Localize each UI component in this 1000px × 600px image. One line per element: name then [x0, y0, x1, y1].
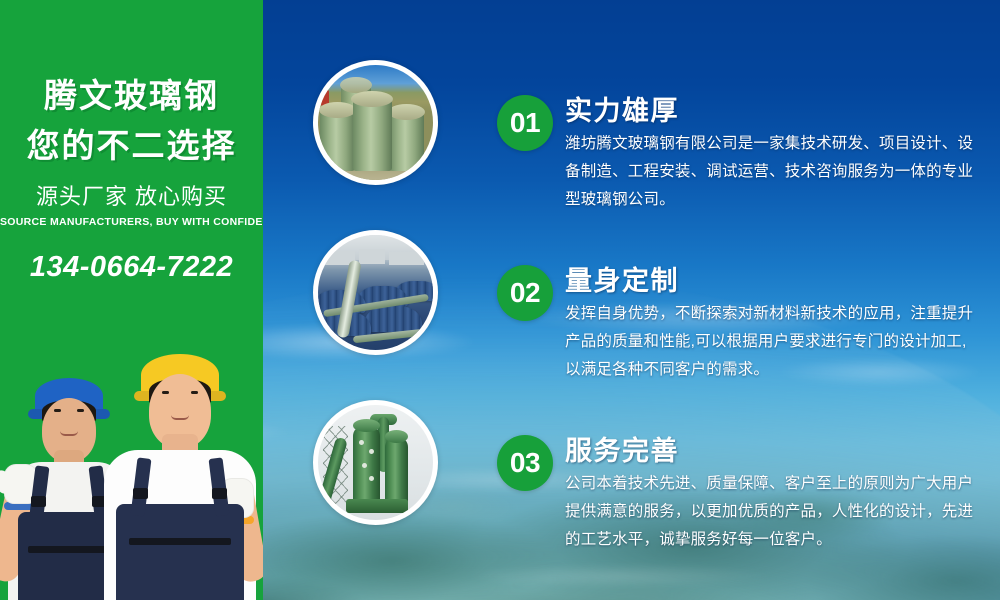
- overall-pocket-seam: [28, 546, 110, 553]
- slogan-line-2: 您的不二选择: [0, 128, 263, 164]
- feature-description-1: 潍坊腾文玻璃钢有限公司是一家集技术研发、项目设计、设备制造、工程安装、调试运营、…: [565, 130, 977, 214]
- equipment-base-skid: [346, 499, 408, 513]
- feature-block-2: 02 量身定制 发挥自身优势，不断探索对新材料新技术的应用，注重提升产品的质量和…: [497, 265, 977, 384]
- feature-number-badge-1: 01: [497, 95, 553, 151]
- bolt: [359, 440, 364, 445]
- left-green-panel: 腾文玻璃钢 您的不二选择 源头厂家 放心购买 SOURCE MANUFACTUR…: [0, 0, 263, 600]
- promo-banner: 腾文玻璃钢 您的不二选择 源头厂家 放心购买 SOURCE MANUFACTUR…: [0, 0, 1000, 600]
- eye-right: [77, 409, 84, 412]
- frp-scrubber-tower: [353, 426, 381, 504]
- feature-description-3: 公司本着技术先进、质量保障、客户至上的原则为广大用户提供满意的服务，以更加优质的…: [565, 470, 977, 554]
- eye-right: [191, 391, 198, 394]
- bolt: [369, 476, 374, 481]
- worker-front-yellow-helmet: [104, 355, 256, 600]
- bolt: [369, 449, 374, 454]
- frp-tank-cover: [364, 306, 422, 331]
- overall-buckle-left: [31, 496, 46, 507]
- overall-buckle-right: [212, 488, 227, 499]
- slogan-line-3: 源头厂家 放心购买: [0, 184, 263, 210]
- contact-phone-number: 134-0664-7222: [0, 251, 263, 283]
- feature-title-3: 服务完善: [565, 435, 977, 467]
- slogan-block: 腾文玻璃钢 您的不二选择 源头厂家 放心购买 SOURCE MANUFACTUR…: [0, 0, 263, 283]
- eye-left: [54, 409, 61, 412]
- bolt: [362, 463, 367, 468]
- mouth: [171, 415, 189, 420]
- feature-number-badge-2: 02: [497, 265, 553, 321]
- eye-left: [162, 391, 169, 394]
- feature-title-2: 量身定制: [565, 265, 977, 297]
- factory-building: [389, 252, 424, 265]
- mouth: [60, 431, 78, 436]
- feature-number-badge-3: 03: [497, 435, 553, 491]
- feature-title-1: 实力雄厚: [565, 95, 977, 127]
- overall-pocket-seam: [129, 538, 231, 545]
- navy-overalls: [116, 504, 244, 600]
- product-photo-scrubber-towers: [313, 400, 438, 525]
- product-photo-tank-covers: [313, 230, 438, 355]
- overall-buckle-left: [133, 488, 148, 499]
- frp-scrubber-tower: [385, 437, 408, 504]
- frp-tank: [320, 111, 355, 171]
- slogan-line-1: 腾文玻璃钢: [0, 78, 263, 114]
- workers-photo: [0, 355, 263, 600]
- slogan-english-subtitle: SOURCE MANUFACTURERS, BUY WITH CONFIDENC…: [0, 215, 263, 229]
- frp-tank: [389, 113, 424, 171]
- factory-building: [359, 249, 384, 264]
- feature-block-3: 03 服务完善 公司本着技术先进、质量保障、客户至上的原则为广大用户提供满意的服…: [497, 435, 977, 554]
- frp-tank: [353, 100, 392, 171]
- product-photo-storage-tanks: [313, 60, 438, 185]
- feature-description-2: 发挥自身优势，不断探索对新材料新技术的应用，注重提升产品的质量和性能,可以根据用…: [565, 300, 977, 384]
- feature-block-1: 01 实力雄厚 潍坊腾文玻璃钢有限公司是一家集技术研发、项目设计、设备制造、工程…: [497, 95, 977, 214]
